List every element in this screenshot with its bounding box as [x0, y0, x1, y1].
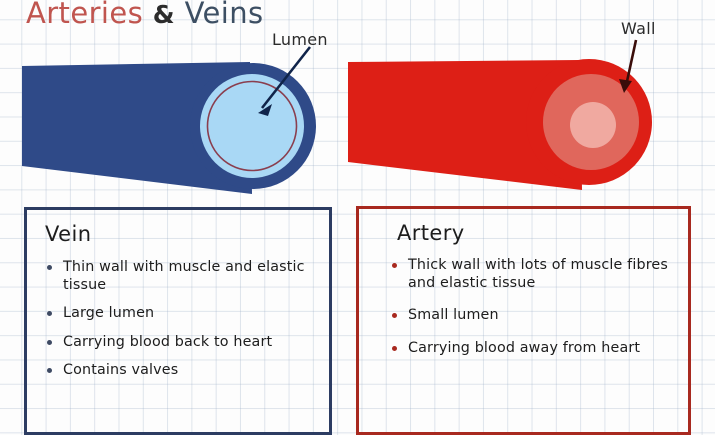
artery-info-box: Artery Thick wall with lots of muscle fi…: [356, 206, 691, 435]
list-item: Carrying blood away from heart: [391, 340, 680, 358]
list-item-text: Carrying blood back to heart: [63, 334, 272, 350]
vein-info-box: Vein Thin wall with muscle and elastic t…: [24, 207, 332, 435]
list-item-text: Contains valves: [63, 362, 178, 378]
bullet-dot-icon: [47, 368, 52, 373]
worksheet-page: Arteries & Veins Lumen Wall: [0, 0, 715, 435]
bullet-dot-icon: [392, 263, 397, 268]
vein-lumen: [208, 82, 297, 171]
bullet-dot-icon: [392, 346, 397, 351]
list-item: Thin wall with muscle and elastic tissue: [46, 259, 319, 294]
list-item: Thick wall with lots of muscle fibres an…: [391, 257, 680, 292]
vein-bullet-list: Thin wall with muscle and elastic tissue…: [27, 246, 329, 380]
artery-bullet-list: Thick wall with lots of muscle fibres an…: [359, 245, 688, 357]
list-item-text: Small lumen: [408, 307, 499, 323]
bullet-dot-icon: [47, 265, 52, 270]
list-item: Contains valves: [46, 362, 319, 380]
list-item: Carrying blood back to heart: [46, 334, 319, 352]
vein-vessel: [22, 62, 316, 194]
list-item-text: Large lumen: [63, 305, 154, 321]
list-item-text: Thin wall with muscle and elastic tissue: [63, 259, 305, 293]
bullet-dot-icon: [47, 340, 52, 345]
vessel-diagram: [0, 0, 715, 210]
vein-heading: Vein: [27, 210, 329, 246]
list-item-text: Carrying blood away from heart: [408, 340, 640, 356]
artery-vessel: [348, 59, 652, 190]
artery-lumen: [570, 102, 616, 148]
bullet-dot-icon: [392, 313, 397, 318]
list-item: Large lumen: [46, 305, 319, 323]
list-item: Small lumen: [391, 307, 680, 325]
bullet-dot-icon: [47, 311, 52, 316]
list-item-text: Thick wall with lots of muscle fibres an…: [408, 257, 668, 291]
artery-heading: Artery: [359, 209, 688, 245]
